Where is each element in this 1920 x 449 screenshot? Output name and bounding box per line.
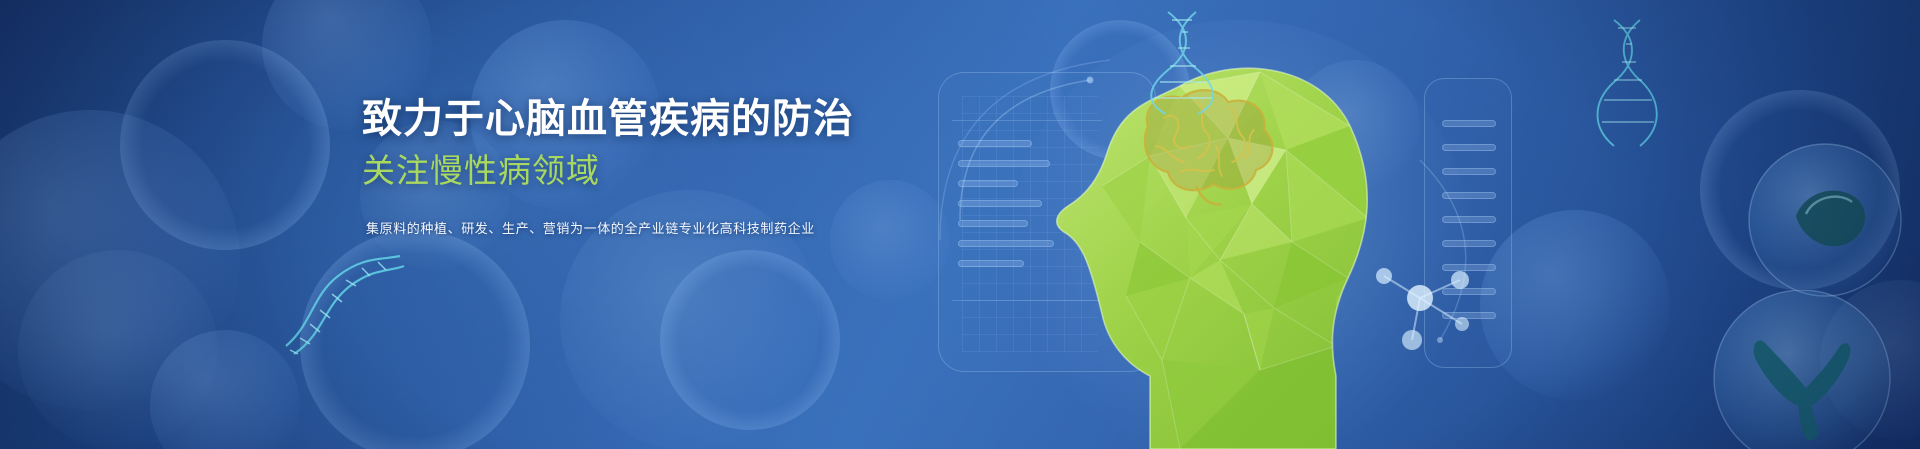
bokeh-circle [1820,280,1920,440]
hud-bar [958,260,1024,267]
page-tagline: 集原料的种植、研发、生产、营销为一体的全产业链专业化高科技制药企业 [366,219,1002,239]
page-subtitle: 关注慢性病领域 [362,151,1002,191]
hud-bar [1442,288,1496,295]
hud-bar [1442,144,1496,151]
bacteria-cell-lower [1702,290,1902,449]
bokeh-circle [1290,60,1420,190]
hud-bar [1442,312,1496,319]
dna-helix-left [278,250,408,360]
bokeh-circle [1700,90,1900,290]
hud-bar [1442,168,1496,175]
hud-bar [1442,240,1496,247]
bacteria-cell-upper [1740,140,1910,300]
hero-banner: 致力于心脑血管疾病的防治 关注慢性病领域 集原料的种植、研发、生产、营销为一体的… [0,0,1920,449]
page-title: 致力于心脑血管疾病的防治 [362,96,1002,142]
hud-bar [1442,120,1496,127]
banner-copy: 致力于心脑血管疾病的防治 关注慢性病领域 集原料的种植、研发、生产、营销为一体的… [362,96,1002,238]
hud-bar [1442,192,1496,199]
hud-bar [958,240,1054,247]
bokeh-circle [1150,300,1320,449]
hud-bar [1442,216,1496,223]
dna-helix-right [1596,18,1660,148]
bokeh-circle [300,230,530,449]
bokeh-circle [150,330,300,449]
bokeh-circle [660,250,840,430]
hud-bar [1442,264,1496,271]
hud-divider [952,300,1102,301]
brain-illustration [1145,90,1272,204]
bokeh-circle [0,110,240,410]
dna-helix-top-right [1148,8,1218,118]
bokeh-circle [18,250,218,449]
bokeh-circle [120,40,330,250]
